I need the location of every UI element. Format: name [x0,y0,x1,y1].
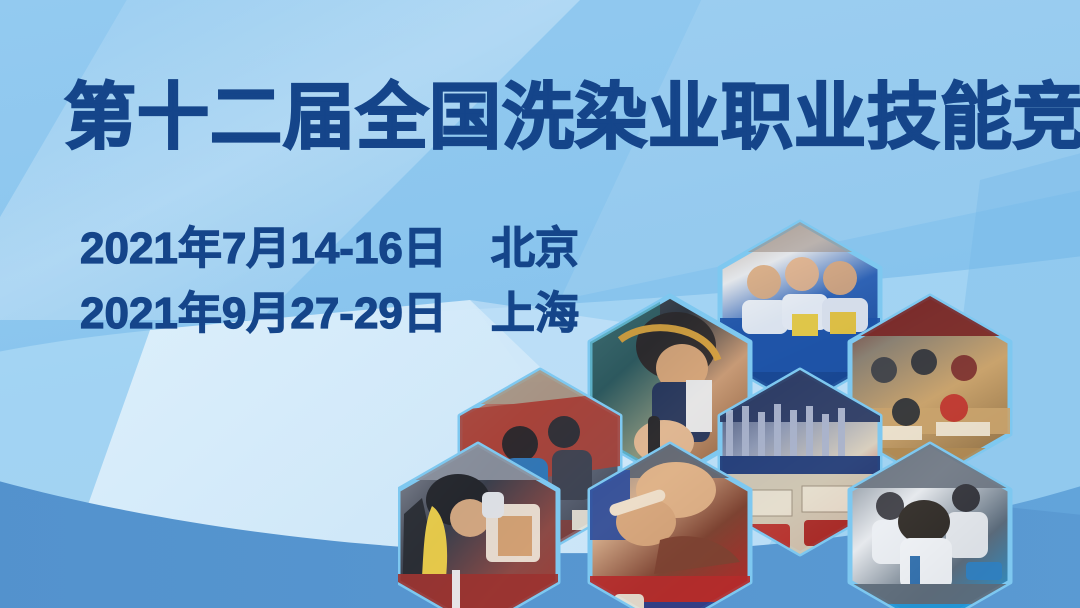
schedule-date: 2021年7月14-16日 [80,216,447,281]
page-title: 第十二届全国洗染业职业技能竞赛 [64,82,1024,154]
photo-collage [398,218,1080,608]
event-poster: 第十二届全国洗染业职业技能竞赛 2021年7月14-16日 北京 2021年9月… [0,0,1080,608]
schedule-date: 2021年9月27-29日 [80,281,447,346]
